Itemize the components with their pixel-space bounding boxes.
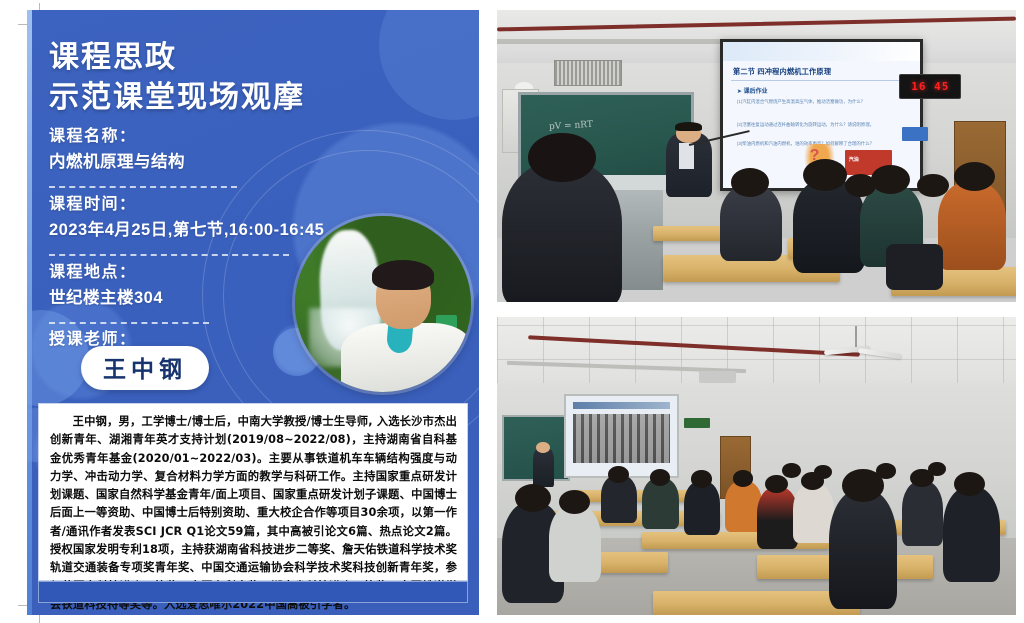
student-row1-d [938, 182, 1005, 270]
field-course-time-label: 课程时间： [49, 193, 449, 217]
divider-after-location [49, 322, 209, 324]
decor-blob-left [27, 310, 89, 406]
teacher-name-badge: 王中钢 [81, 346, 209, 390]
student-head-rear-c [691, 470, 712, 487]
wall-notice [902, 127, 928, 142]
teacher-bio-box: 王中钢，男，工学博士/博士后，中南大学教授/博士生导师, 入选长沙市杰出创新青年… [38, 403, 468, 581]
slide-title-rule [731, 80, 904, 81]
student-rear-white [793, 484, 835, 544]
slide-paragraph-1: (1)汽缸内混合气燃烧产生高温高压气体，推动活塞做功，为什么？ [737, 99, 906, 106]
course-poster: 课程思政 示范课堂现场观摩 课程名称： 内燃机原理与结构 课程时间： 2023年… [27, 10, 479, 615]
slide-paragraph-2: (2)活塞往复运动通过连杆曲轴转化为旋转运动，为什么？请说明原理。 [737, 122, 906, 129]
student-head-rear-extra-3 [876, 463, 896, 478]
led-clock-digits: 16 45 [900, 75, 960, 98]
poster-footer-bar [38, 581, 468, 603]
student-backpack [886, 244, 943, 291]
student-rear-c [684, 481, 720, 535]
projector [699, 371, 735, 383]
teacher-shirt [679, 143, 695, 169]
teacher-hair [675, 122, 702, 131]
student-head-rear-extra-1 [782, 463, 801, 478]
student-head-rear-a [608, 466, 629, 483]
student-rear-right-a [902, 481, 944, 547]
student-head-row1-d [954, 162, 996, 191]
slide-red-callout-text: 汽油 [849, 156, 859, 163]
poster-title: 课程思政 示范课堂现场观摩 [49, 38, 449, 117]
ceiling-fan-pole [855, 326, 857, 347]
field-course-name-label: 课程名称： [49, 125, 349, 149]
student-head-row1-b [803, 159, 847, 191]
screenshot-canvas: 课程思政 示范课堂现场观摩 课程名称： 内燃机原理与结构 课程时间： 2023年… [0, 0, 1024, 623]
exit-sign [684, 418, 710, 428]
slide-title: 第二节 四冲程内燃机工作原理 [733, 67, 831, 77]
student-head-back-b [917, 174, 948, 197]
student-rear-foreground [829, 490, 896, 609]
divider-after-course-name [49, 186, 237, 188]
wall-vent [554, 60, 621, 86]
student-head-row1-a [731, 168, 770, 197]
teacher-head-rear [536, 442, 549, 453]
teacher-figure-rear [533, 448, 554, 487]
student-head-back-a [845, 174, 876, 197]
field-course-name-value: 内燃机原理与结构 [49, 149, 349, 175]
student-head-rear-left-white [559, 490, 590, 514]
student-rear-left-white [549, 505, 601, 582]
slide-header-rear [573, 402, 670, 409]
led-clock: 16 45 [899, 74, 961, 99]
student-head-row1-c [871, 165, 910, 194]
classroom-photo-front-view: pV = nRT 第二节 四冲程内燃机工作原理 ➤ 课后作业 (1)汽缸内混合气… [497, 10, 1016, 302]
student-head-rear-right-b [954, 472, 985, 496]
field-course-name: 课程名称： 内燃机原理与结构 [49, 125, 349, 175]
poster-title-line1: 课程思政 [49, 41, 177, 74]
student-head-foreground-left [528, 133, 595, 183]
portrait-hair [372, 260, 434, 290]
slide-bullet: ➤ 课后作业 [737, 86, 768, 95]
student-rear-right-b [943, 487, 1000, 582]
student-rear-red [757, 487, 799, 550]
student-head-rear-b [650, 469, 671, 486]
student-foreground-left [502, 162, 621, 302]
slide-image-rear [573, 414, 670, 463]
divider-after-course-time [49, 254, 289, 256]
classroom-photo-rear-view [497, 317, 1016, 615]
slide-header-band [723, 42, 919, 61]
poster-title-line2: 示范课堂现场观摩 [49, 78, 449, 118]
teacher-portrait-avatar [295, 216, 471, 392]
